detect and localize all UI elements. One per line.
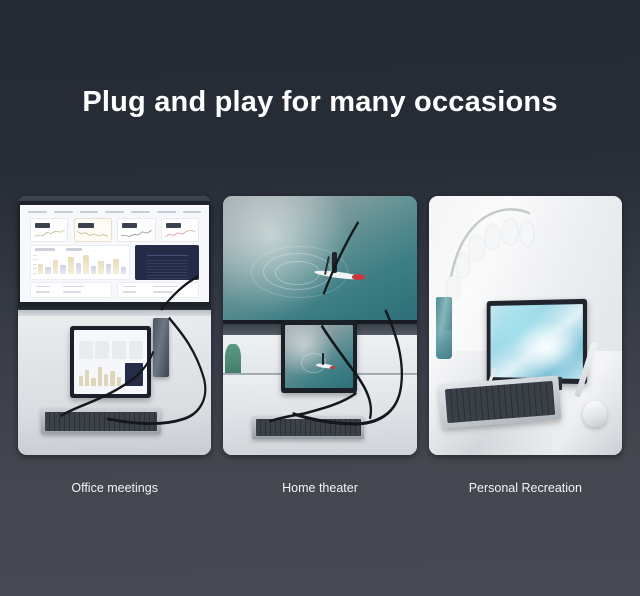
wireless-mouse: [583, 401, 606, 427]
scene-panel-home-theater[interactable]: [223, 196, 416, 455]
caption-home-theater: Home theater: [223, 476, 416, 500]
page-root: Plug and play for many occasions: [0, 0, 640, 596]
external-keyboard: [439, 375, 562, 428]
scene-panel-office-meetings[interactable]: [18, 196, 211, 455]
vase-water: [436, 331, 451, 359]
keyboard-keys: [445, 381, 555, 424]
orchid-flower: [469, 235, 484, 261]
scene-panel-row: [18, 196, 622, 455]
connection-cables: [18, 196, 211, 455]
connection-cables: [223, 196, 416, 455]
caption-row: Office meetings Home theater Personal Re…: [18, 476, 622, 500]
orchid-flower: [502, 219, 517, 245]
caption-personal-recreation: Personal Recreation: [429, 476, 622, 500]
orchid-flower: [456, 253, 470, 278]
tablet-wallpaper-screen: [490, 304, 582, 379]
tablet-device: [486, 298, 586, 383]
caption-office-meetings: Office meetings: [18, 476, 211, 500]
scene-panel-personal-recreation[interactable]: [429, 196, 622, 455]
page-title: Plug and play for many occasions: [0, 86, 640, 119]
